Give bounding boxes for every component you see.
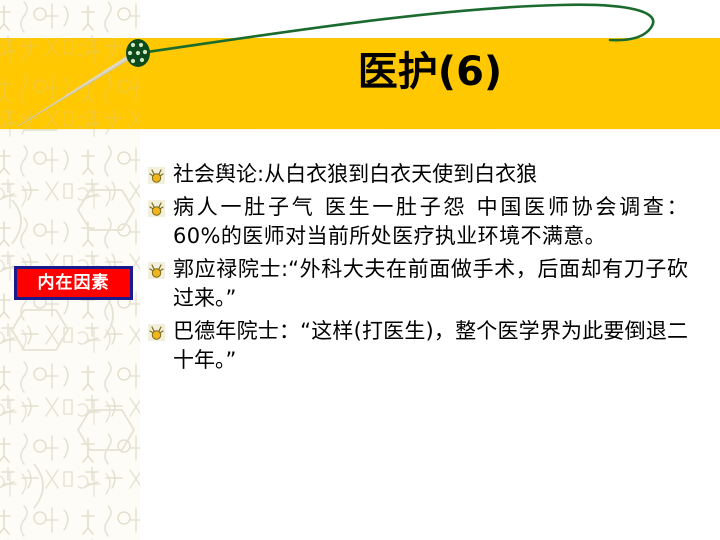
list-item: 郭应禄院士:“外科大夫在前面做手术，后面却有刀子砍过来。”	[148, 255, 688, 313]
band-pattern-overlay	[0, 38, 140, 129]
list-item: 病人一肚子气 医生一肚子怨 中国医师协会调查： 60%的医师对当前所处医疗执业环…	[148, 193, 688, 251]
flower-bullet-icon	[148, 324, 165, 341]
flower-bullet-icon	[148, 262, 165, 279]
bullet-list: 社会舆论:从白衣狼到白衣天使到白衣狼 病人一肚子气 医生一肚子怨 中国医师协会调…	[148, 160, 688, 379]
status-badge-inner-factors: 内在因素	[14, 266, 133, 300]
page-title: 医护(6)	[180, 52, 680, 92]
list-item-text: 巴德年院士：“这样(打医生)，整个医学界为此要倒退二十年。”	[173, 317, 688, 375]
flower-bullet-icon	[148, 200, 165, 217]
list-item-text: 郭应禄院士:“外科大夫在前面做手术，后面却有刀子砍过来。”	[173, 255, 688, 313]
slide-canvas: 医护(6) 内在因素 社会舆论:从白衣狼到白衣天使到白衣狼 病人一肚子气 医生一…	[0, 0, 720, 540]
list-item: 社会舆论:从白衣狼到白衣天使到白衣狼	[148, 160, 688, 189]
flower-bullet-icon	[148, 167, 165, 184]
list-item-text: 社会舆论:从白衣狼到白衣天使到白衣狼	[173, 160, 688, 189]
list-item-text: 病人一肚子气 医生一肚子怨 中国医师协会调查： 60%的医师对当前所处医疗执业环…	[173, 193, 688, 251]
status-badge-label: 内在因素	[38, 275, 110, 292]
list-item: 巴德年院士：“这样(打医生)，整个医学界为此要倒退二十年。”	[148, 317, 688, 375]
